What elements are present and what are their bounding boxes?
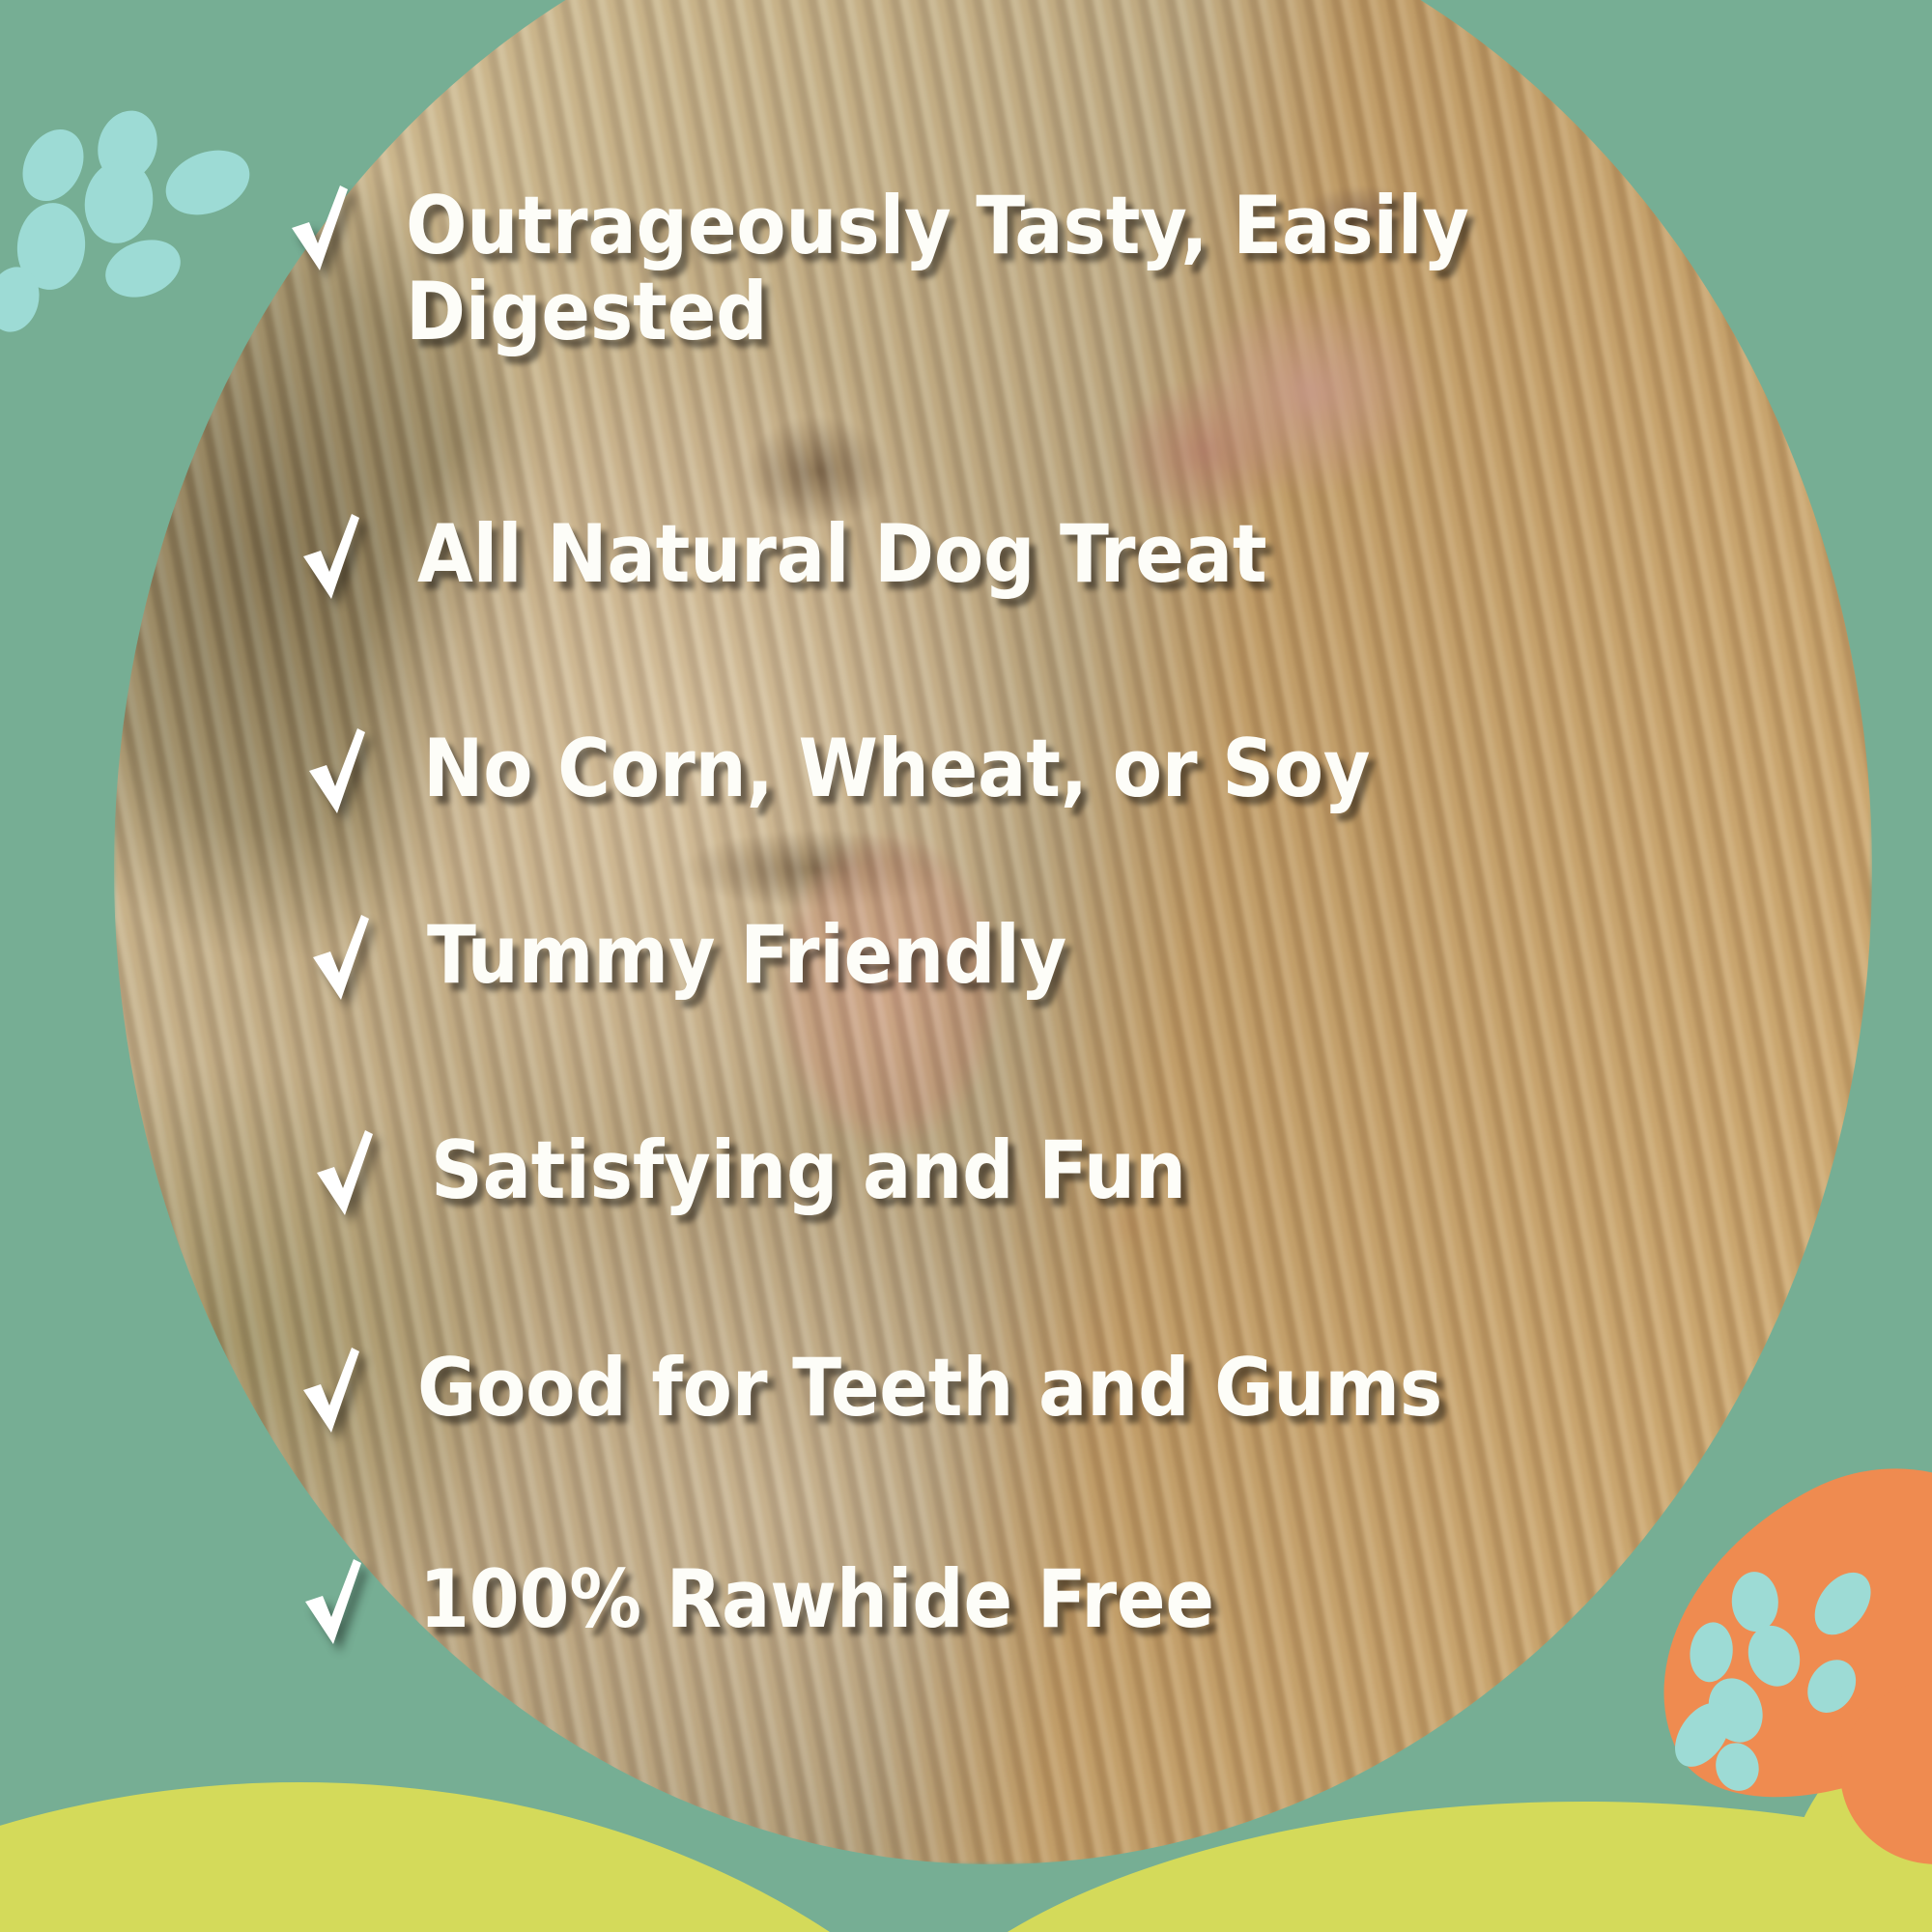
list-item-label: Good for Teeth and Gums [417, 1346, 1442, 1432]
list-item-label: No Corn, Wheat, or Soy [423, 726, 1370, 812]
list-item-label: Satisfying and Fun [431, 1128, 1186, 1214]
product-benefits-banner: Outrageously Tasty, Easily Digested All … [0, 0, 1932, 1932]
list-item-label: All Natural Dog Treat [417, 512, 1266, 598]
list-item-label: Tummy Friendly [427, 913, 1066, 999]
list-item: Good for Teeth and Gums [301, 1346, 1442, 1435]
list-item: Outrageously Tasty, Easily Digested [290, 184, 1469, 355]
list-item: Satisfying and Fun [315, 1128, 1186, 1217]
checkmark-icon [307, 726, 367, 815]
list-item: All Natural Dog Treat [301, 512, 1266, 601]
list-item-label: 100% Rawhide Free [419, 1557, 1214, 1643]
list-item-label: Outrageously Tasty, Easily Digested [406, 184, 1469, 355]
list-item: 100% Rawhide Free [303, 1557, 1214, 1646]
list-item: No Corn, Wheat, or Soy [307, 726, 1370, 815]
checkmark-icon [311, 913, 371, 1002]
benefits-list: Outrageously Tasty, Easily Digested All … [0, 0, 1932, 1932]
checkmark-icon [290, 184, 350, 272]
checkmark-icon [301, 1346, 361, 1435]
list-item: Tummy Friendly [311, 913, 1066, 1002]
checkmark-icon [315, 1128, 375, 1217]
checkmark-icon [303, 1557, 363, 1646]
checkmark-icon [301, 512, 361, 601]
